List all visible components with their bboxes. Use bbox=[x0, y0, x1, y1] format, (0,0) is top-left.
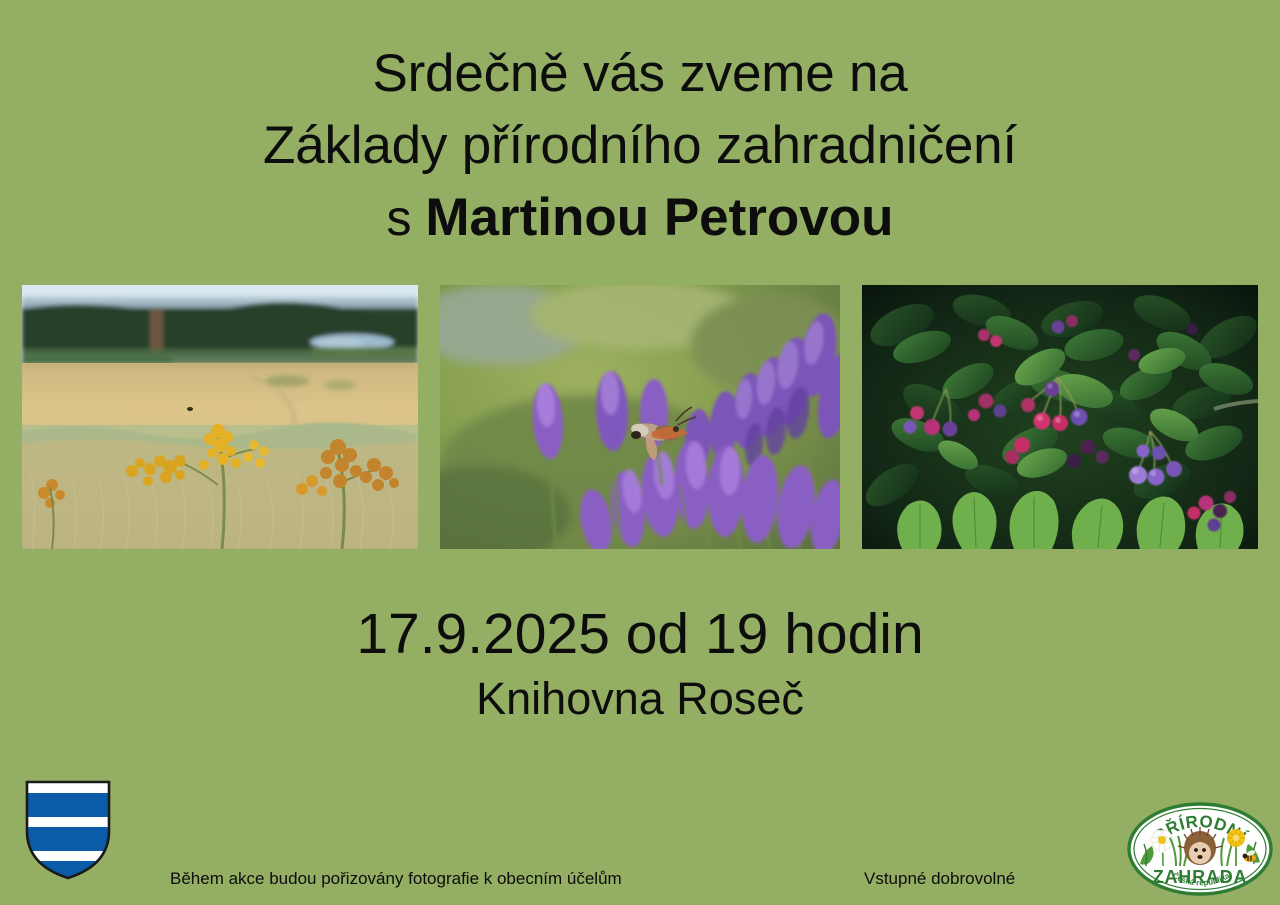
headline-preposition: s bbox=[386, 190, 425, 246]
lavender-hawkmoth-illustration bbox=[440, 285, 840, 549]
serviceberry-photo bbox=[862, 285, 1258, 549]
headline-line-2: Základy přírodního zahradničení bbox=[0, 110, 1280, 182]
headline-line-3: s Martinou Petrovou bbox=[0, 182, 1280, 254]
speaker-name: Martinou Petrovou bbox=[425, 188, 893, 247]
photo-notice: Během akce budou pořizovány fotografie k… bbox=[170, 868, 622, 890]
admission-note: Vstupné dobrovolné bbox=[864, 868, 1015, 890]
meadow-landscape-photo bbox=[22, 285, 418, 549]
prirodni-zahrada-logo-icon: PŘÍRODNÍ bbox=[1126, 800, 1274, 898]
event-info: 17.9.2025 od 19 hodin Knihovna Roseč bbox=[0, 600, 1280, 730]
prirodni-zahrada-logo: PŘÍRODNÍ bbox=[1126, 800, 1274, 898]
poster-headline: Srdečně vás zveme na Základy přírodního … bbox=[0, 38, 1280, 254]
headline-line-1: Srdečně vás zveme na bbox=[0, 38, 1280, 110]
shield-icon bbox=[24, 779, 112, 881]
meadow-landscape-illustration bbox=[22, 285, 418, 549]
lavender-hawkmoth-photo bbox=[440, 285, 840, 549]
municipal-coat-of-arms bbox=[24, 779, 112, 881]
serviceberry-illustration bbox=[862, 285, 1258, 549]
event-venue: Knihovna Roseč bbox=[0, 668, 1280, 730]
photo-strip bbox=[0, 285, 1280, 549]
event-poster: Srdečně vás zveme na Základy přírodního … bbox=[0, 0, 1280, 905]
event-date: 17.9.2025 od 19 hodin bbox=[0, 600, 1280, 668]
